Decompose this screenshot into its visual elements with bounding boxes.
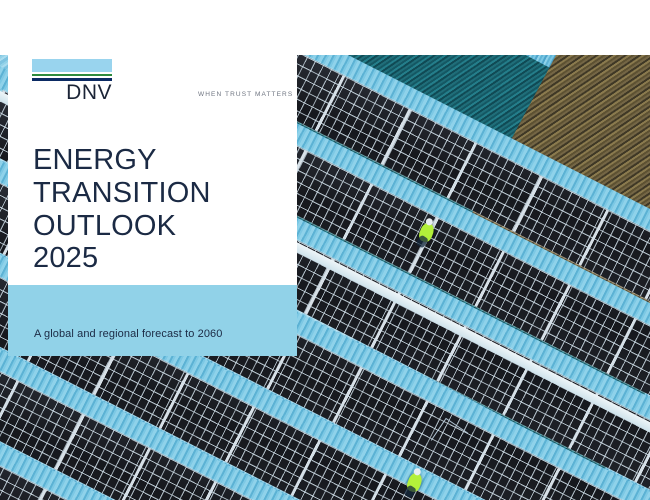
logo-bar-light-blue — [32, 59, 112, 72]
report-cover: DNV WHEN TRUST MATTERS ENERGY TRANSITION… — [0, 0, 650, 500]
cover-subtitle: A global and regional forecast to 2060 — [34, 328, 223, 340]
brand-tagline: WHEN TRUST MATTERS — [198, 91, 293, 98]
logo-wordmark: DNV — [32, 82, 112, 104]
dnv-logo: DNV — [32, 59, 112, 104]
cover-title: ENERGY TRANSITION OUTLOOK 2025 — [33, 144, 211, 275]
cover-panel: DNV WHEN TRUST MATTERS ENERGY TRANSITION… — [8, 34, 297, 356]
logo-rule-green — [32, 74, 112, 76]
subtitle-band: A global and regional forecast to 2060 — [8, 285, 297, 356]
cover-panel-body: DNV WHEN TRUST MATTERS ENERGY TRANSITION… — [8, 34, 297, 285]
